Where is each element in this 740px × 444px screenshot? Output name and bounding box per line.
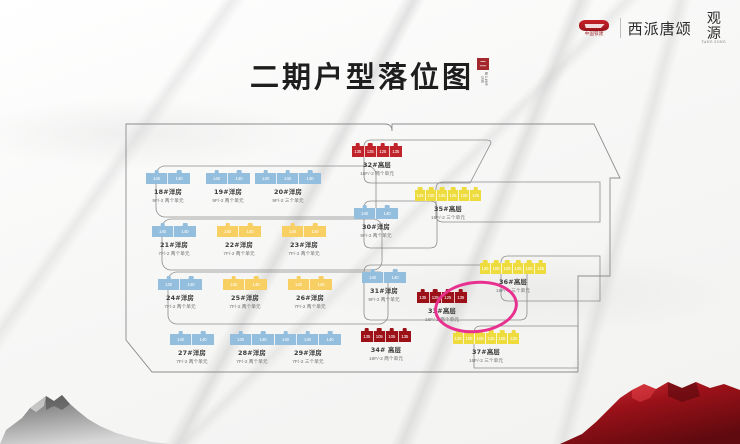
unit-badge: 125 bbox=[442, 292, 455, 303]
building-block-b30[interactable]: 14014030#洋房9F/-2 两个单元 bbox=[354, 208, 398, 239]
building-spec-label: 7F/-2 两个单元 bbox=[230, 359, 274, 365]
building-name-label: 21#洋房 bbox=[152, 240, 196, 249]
unit-badge: 140 bbox=[384, 272, 406, 283]
building-spec-label: 16F/-2 两个单元 bbox=[361, 356, 411, 362]
building-spec-label: 9F/-2 两个单元 bbox=[146, 198, 190, 204]
building-block-b29[interactable]: 14014014029#洋房7F/-2 三个单元 bbox=[275, 334, 341, 365]
unit-badge: 140 bbox=[223, 279, 245, 290]
unit-badge: 140 bbox=[174, 226, 196, 237]
building-name-label: 28#洋房 bbox=[230, 348, 274, 357]
building-units-b22: 140140 bbox=[217, 226, 261, 237]
building-units-b25: 140140 bbox=[223, 279, 267, 290]
building-block-b24[interactable]: 14014024#洋房7F/-2 两个单元 bbox=[158, 279, 202, 310]
unit-badge: 125 bbox=[470, 190, 481, 201]
building-name-label: 30#洋房 bbox=[354, 222, 398, 231]
unit-badge: 105 bbox=[437, 190, 448, 201]
building-name-label: 24#洋房 bbox=[158, 293, 202, 302]
building-name-label: 19#洋房 bbox=[206, 187, 250, 196]
unit-badge: 140 bbox=[168, 173, 190, 184]
building-name-label: 27#洋房 bbox=[170, 348, 214, 357]
unit-badge: 105 bbox=[459, 190, 470, 201]
unit-badge: 125 bbox=[365, 146, 378, 157]
building-units-b36: 125105105125105125 bbox=[480, 263, 546, 274]
unit-badge: 140 bbox=[239, 226, 261, 237]
unit-badge: 140 bbox=[319, 334, 341, 345]
unit-badge: 125 bbox=[377, 146, 390, 157]
gray-mountain-decoration bbox=[0, 380, 300, 444]
building-units-b23: 140140 bbox=[282, 226, 326, 237]
building-name-label: 18#洋房 bbox=[146, 187, 190, 196]
building-name-label: 20#洋房 bbox=[255, 187, 321, 196]
building-spec-label: 7F/-2 三个单元 bbox=[275, 359, 341, 365]
building-block-b19[interactable]: 14014019#洋房9F/-2 两个单元 bbox=[206, 173, 250, 204]
building-block-b36[interactable]: 12510510512510512536#高层16F/-2 三个单元 bbox=[480, 263, 546, 294]
building-units-b34: 135105105135 bbox=[361, 331, 411, 342]
building-name-label: 23#洋房 bbox=[282, 240, 326, 249]
building-block-b31[interactable]: 14014031#洋房9F/-2 两个单元 bbox=[362, 272, 406, 303]
unit-badge: 135 bbox=[361, 331, 374, 342]
unit-badge: 140 bbox=[310, 279, 332, 290]
unit-badge: 125 bbox=[430, 292, 443, 303]
building-block-b22[interactable]: 14014022#洋房7F/-2 两个单元 bbox=[217, 226, 261, 257]
building-units-b30: 140140 bbox=[354, 208, 398, 219]
unit-badge: 125 bbox=[486, 333, 497, 344]
building-units-b29: 140140140 bbox=[275, 334, 341, 345]
unit-badge: 105 bbox=[497, 333, 508, 344]
unit-badge: 135 bbox=[352, 146, 365, 157]
building-units-b33: 135125125135 bbox=[417, 292, 467, 303]
unit-badge: 105 bbox=[524, 263, 535, 274]
unit-badge: 140 bbox=[288, 279, 310, 290]
unit-badge: 140 bbox=[217, 226, 239, 237]
unit-badge: 140 bbox=[192, 334, 214, 345]
building-spec-label: 7F/-2 两个单元 bbox=[217, 251, 261, 257]
unit-badge: 140 bbox=[158, 279, 180, 290]
building-block-b35[interactable]: 12510510512510512535#高层16F/-2 三个单元 bbox=[415, 190, 481, 221]
building-block-b26[interactable]: 14014026#洋房7F/-2 两个单元 bbox=[288, 279, 332, 310]
building-block-b27[interactable]: 14014027#洋房7F/-2 两个单元 bbox=[170, 334, 214, 365]
unit-badge: 140 bbox=[245, 279, 267, 290]
unit-badge: 140 bbox=[152, 226, 174, 237]
red-mountain-decoration bbox=[410, 372, 740, 444]
building-units-b32: 135125125135 bbox=[352, 146, 402, 157]
unit-badge: 135 bbox=[390, 146, 403, 157]
unit-badge: 140 bbox=[275, 334, 297, 345]
building-name-label: 22#洋房 bbox=[217, 240, 261, 249]
building-units-b31: 140140 bbox=[362, 272, 406, 283]
building-spec-label: 7F/-2 两个单元 bbox=[282, 251, 326, 257]
unit-badge: 140 bbox=[362, 272, 384, 283]
building-name-label: 33#高层 bbox=[417, 306, 467, 315]
unit-badge: 105 bbox=[386, 331, 399, 342]
building-spec-label: 9F/-2 两个单元 bbox=[354, 233, 398, 239]
building-name-label: 29#洋房 bbox=[275, 348, 341, 357]
building-spec-label: 16F/-2 两个单元 bbox=[417, 317, 467, 323]
building-spec-label: 9F/-2 三个单元 bbox=[255, 198, 321, 204]
building-units-b19: 140140 bbox=[206, 173, 250, 184]
building-block-b23[interactable]: 14014023#洋房7F/-2 两个单元 bbox=[282, 226, 326, 257]
building-name-label: 35#高层 bbox=[415, 204, 481, 213]
unit-badge: 140 bbox=[299, 173, 321, 184]
unit-badge: 140 bbox=[228, 173, 250, 184]
building-block-b20[interactable]: 14014014020#洋房9F/-2 三个单元 bbox=[255, 173, 321, 204]
building-units-b27: 140140 bbox=[170, 334, 214, 345]
unit-badge: 105 bbox=[502, 263, 513, 274]
unit-badge: 140 bbox=[180, 279, 202, 290]
unit-badge: 135 bbox=[399, 331, 412, 342]
building-spec-label: 16F/-2 三个单元 bbox=[453, 358, 519, 364]
building-block-b28[interactable]: 14014028#洋房7F/-2 两个单元 bbox=[230, 334, 274, 365]
building-name-label: 36#高层 bbox=[480, 277, 546, 286]
building-units-b20: 140140140 bbox=[255, 173, 321, 184]
unit-badge: 135 bbox=[455, 292, 468, 303]
building-units-b24: 140140 bbox=[158, 279, 202, 290]
building-name-label: 25#洋房 bbox=[223, 293, 267, 302]
building-block-b25[interactable]: 14014025#洋房7F/-2 两个单元 bbox=[223, 279, 267, 310]
building-units-b21: 140140 bbox=[152, 226, 196, 237]
building-block-b32[interactable]: 13512512513532#高层16F/-2 两个单元 bbox=[352, 146, 402, 177]
building-spec-label: 16F/-2 两个单元 bbox=[352, 171, 402, 177]
building-units-b35: 125105105125105125 bbox=[415, 190, 481, 201]
unit-badge: 125 bbox=[535, 263, 546, 274]
building-units-b37: 125105105125105125 bbox=[453, 333, 519, 344]
building-spec-label: 9F/-2 两个单元 bbox=[362, 297, 406, 303]
building-units-b28: 140140 bbox=[230, 334, 274, 345]
unit-badge: 140 bbox=[354, 208, 376, 219]
building-spec-label: 7F/-2 两个单元 bbox=[152, 251, 196, 257]
unit-badge: 140 bbox=[376, 208, 398, 219]
building-block-b34[interactable]: 13510510513534# 高层16F/-2 两个单元 bbox=[361, 331, 411, 362]
building-name-label: 34# 高层 bbox=[361, 345, 411, 354]
building-block-b37[interactable]: 12510510512510512537#高层16F/-2 三个单元 bbox=[453, 333, 519, 364]
building-spec-label: 7F/-2 两个单元 bbox=[170, 359, 214, 365]
unit-badge: 125 bbox=[513, 263, 524, 274]
unit-badge: 125 bbox=[453, 333, 464, 344]
unit-badge: 140 bbox=[252, 334, 274, 345]
unit-badge: 140 bbox=[304, 226, 326, 237]
building-spec-label: 9F/-2 两个单元 bbox=[206, 198, 250, 204]
unit-badge: 135 bbox=[417, 292, 430, 303]
unit-badge: 140 bbox=[146, 173, 168, 184]
unit-badge: 105 bbox=[374, 331, 387, 342]
unit-badge: 140 bbox=[170, 334, 192, 345]
unit-badge: 105 bbox=[491, 263, 502, 274]
building-block-b18[interactable]: 14014018#洋房9F/-2 两个单元 bbox=[146, 173, 190, 204]
building-name-label: 32#高层 bbox=[352, 160, 402, 169]
building-name-label: 26#洋房 bbox=[288, 293, 332, 302]
unit-badge: 140 bbox=[255, 173, 277, 184]
unit-badge: 140 bbox=[230, 334, 252, 345]
unit-badge: 125 bbox=[448, 190, 459, 201]
building-spec-label: 16F/-2 三个单元 bbox=[480, 288, 546, 294]
unit-badge: 105 bbox=[475, 333, 486, 344]
unit-badge: 105 bbox=[464, 333, 475, 344]
building-name-label: 31#洋房 bbox=[362, 286, 406, 295]
unit-badge: 140 bbox=[206, 173, 228, 184]
unit-badge: 105 bbox=[426, 190, 437, 201]
unit-badge: 125 bbox=[508, 333, 519, 344]
building-units-b18: 140140 bbox=[146, 173, 190, 184]
building-block-b21[interactable]: 14014021#洋房7F/-2 两个单元 bbox=[152, 226, 196, 257]
unit-badge: 140 bbox=[282, 226, 304, 237]
building-name-label: 37#高层 bbox=[453, 347, 519, 356]
building-spec-label: 16F/-2 三个单元 bbox=[415, 215, 481, 221]
building-spec-label: 7F/-2 两个单元 bbox=[288, 304, 332, 310]
building-spec-label: 7F/-2 两个单元 bbox=[223, 304, 267, 310]
unit-badge: 140 bbox=[297, 334, 319, 345]
building-units-b26: 140140 bbox=[288, 279, 332, 290]
unit-badge: 140 bbox=[277, 173, 299, 184]
building-block-b33[interactable]: 13512512513533#高层16F/-2 两个单元 bbox=[417, 292, 467, 323]
unit-badge: 125 bbox=[415, 190, 426, 201]
building-spec-label: 7F/-2 两个单元 bbox=[158, 304, 202, 310]
unit-badge: 125 bbox=[480, 263, 491, 274]
